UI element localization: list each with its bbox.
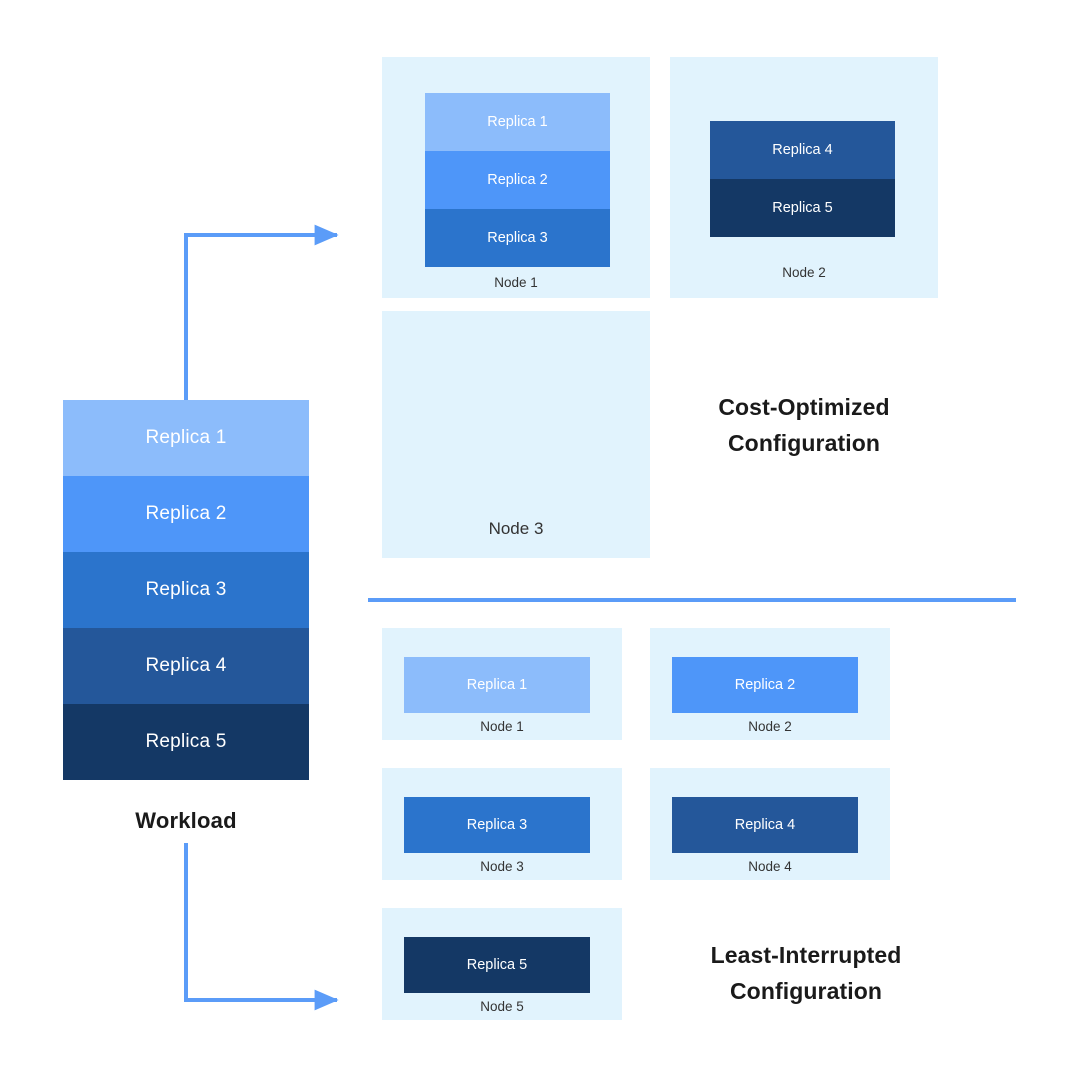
replica-chip: Replica 2	[672, 657, 858, 713]
replica-chip: Replica 5	[404, 937, 590, 993]
least-interrupted-caption: Least-Interrupted Configuration	[672, 938, 940, 1009]
replica-chip-label: Replica 2	[735, 677, 795, 693]
replica-chip-label: Replica 3	[487, 230, 547, 246]
cost-node-2: Replica 4 Replica 5 Node 2	[670, 57, 938, 298]
replica-chip: Replica 2	[425, 151, 610, 209]
replica-chip: Replica 1	[425, 93, 610, 151]
replica-chip: Replica 4	[710, 121, 895, 179]
replica-chip-label: Replica 1	[487, 114, 547, 130]
least-node-3: Replica 3 Node 3	[382, 768, 622, 880]
replica-chip-label: Replica 4	[772, 142, 832, 158]
replica-chip-label: Replica 5	[772, 200, 832, 216]
arrow-to-cost-optimized	[186, 235, 337, 400]
cost-optimized-caption-line2: Configuration	[670, 426, 938, 462]
workload-replica-label: Replica 5	[145, 731, 226, 753]
node-label: Node 2	[670, 265, 938, 280]
node-label: Node 2	[650, 719, 890, 734]
workload-replica-label: Replica 1	[145, 427, 226, 449]
cost-optimized-caption-line1: Cost-Optimized	[670, 390, 938, 426]
node-label: Node 3	[382, 859, 622, 874]
replica-chip-label: Replica 4	[735, 817, 795, 833]
workload-replica: Replica 5	[63, 704, 309, 780]
node-label: Node 1	[382, 275, 650, 290]
replica-chip-label: Replica 1	[467, 677, 527, 693]
workload-replica-label: Replica 3	[145, 579, 226, 601]
replica-chip: Replica 1	[404, 657, 590, 713]
replica-chip: Replica 3	[425, 209, 610, 267]
workload-replica-label: Replica 2	[145, 503, 226, 525]
cost-optimized-caption: Cost-Optimized Configuration	[670, 390, 938, 461]
workload-replica: Replica 4	[63, 628, 309, 704]
workload-replica: Replica 2	[63, 476, 309, 552]
replica-chip-label: Replica 2	[487, 172, 547, 188]
cost-node-1: Replica 1 Replica 2 Replica 3 Node 1	[382, 57, 650, 298]
replica-chip: Replica 3	[404, 797, 590, 853]
least-node-4: Replica 4 Node 4	[650, 768, 890, 880]
node-label: Node 4	[650, 859, 890, 874]
arrow-to-least-interrupted	[186, 843, 337, 1000]
replica-chip-label: Replica 3	[467, 817, 527, 833]
replica-chip: Replica 5	[710, 179, 895, 237]
cost-node-3: Node 3	[382, 311, 650, 558]
workload-stack: Replica 1 Replica 2 Replica 3 Replica 4 …	[63, 400, 309, 780]
node-label: Node 1	[382, 719, 622, 734]
section-divider	[368, 598, 1016, 602]
least-node-5: Replica 5 Node 5	[382, 908, 622, 1020]
workload-replica: Replica 1	[63, 400, 309, 476]
replica-chip-label: Replica 5	[467, 957, 527, 973]
diagram-canvas: Replica 1 Replica 2 Replica 3 Replica 4 …	[0, 0, 1080, 1080]
workload-title: Workload	[63, 808, 309, 834]
least-interrupted-caption-line1: Least-Interrupted	[672, 938, 940, 974]
workload-replica-label: Replica 4	[145, 655, 226, 677]
node-label: Node 5	[382, 999, 622, 1014]
replica-chip: Replica 4	[672, 797, 858, 853]
node-label: Node 3	[382, 519, 650, 539]
workload-replica: Replica 3	[63, 552, 309, 628]
least-node-2: Replica 2 Node 2	[650, 628, 890, 740]
least-node-1: Replica 1 Node 1	[382, 628, 622, 740]
least-interrupted-caption-line2: Configuration	[672, 974, 940, 1010]
